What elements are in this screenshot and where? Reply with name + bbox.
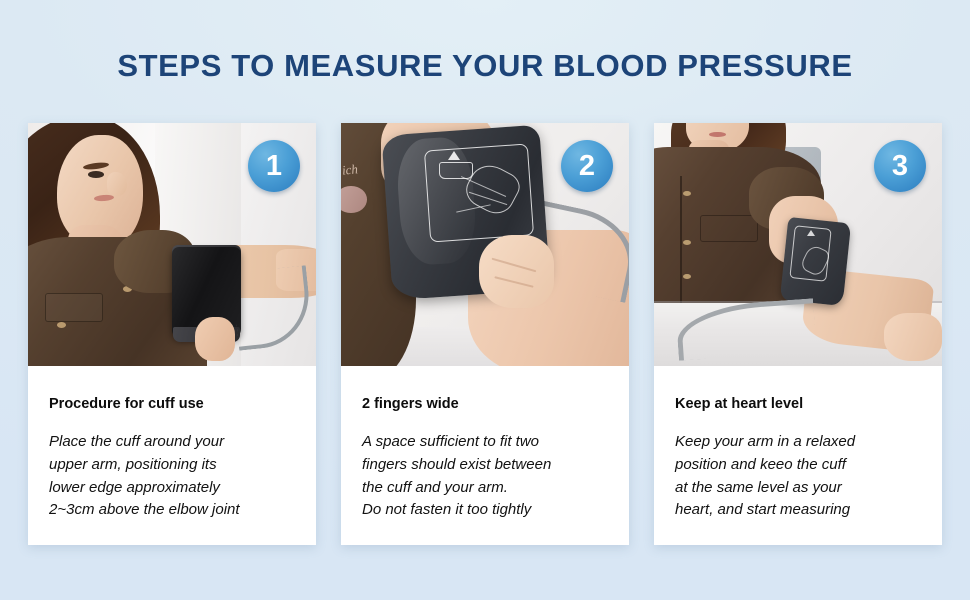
step-3-heading: Keep at heart level (675, 396, 922, 412)
woman-eye (88, 171, 104, 178)
step-card-2[interactable]: ich 2 2 fingers wide A space sufficient … (341, 123, 629, 545)
infographic-poster: STEPS TO MEASURE YOUR BLOOD PRESSURE (0, 0, 970, 600)
step-3-photo: 3 (654, 123, 942, 366)
step-3-text: Keep at heart level Keep your arm in a r… (654, 366, 942, 545)
blouse-button (57, 322, 66, 328)
step-3-body: Keep your arm in a relaxed position and … (675, 431, 922, 522)
step-2-photo: ich 2 (341, 123, 629, 366)
blouse-pocket (45, 293, 103, 322)
step-2-text: 2 fingers wide A space sufficient to fit… (341, 366, 629, 545)
diagram-arrow-icon (807, 230, 815, 236)
blouse-pocket (700, 215, 758, 242)
cloth-script-text: ich (342, 161, 359, 179)
step-1-photo: 1 (28, 123, 316, 366)
step-2-body: A space sufficient to fit two fingers sh… (362, 431, 609, 522)
step-card-3[interactable]: 3 Keep at heart level Keep your arm in a… (654, 123, 942, 545)
step-badge-2: 2 (561, 140, 613, 192)
steps-card-list: 1 Procedure for cuff use Place the cuff … (28, 123, 942, 545)
diagram-arrow-icon (448, 151, 460, 160)
diagram-cuff-icon (439, 162, 474, 179)
step-2-heading: 2 fingers wide (362, 396, 609, 412)
step-1-body: Place the cuff around your upper arm, po… (49, 431, 296, 522)
blouse-placket (680, 176, 682, 302)
step-card-1[interactable]: 1 Procedure for cuff use Place the cuff … (28, 123, 316, 545)
page-title: STEPS TO MEASURE YOUR BLOOD PRESSURE (0, 48, 970, 84)
step-badge-3: 3 (874, 140, 926, 192)
step-badge-1: 1 (248, 140, 300, 192)
assistant-hand (195, 317, 235, 361)
woman-lips (709, 132, 726, 137)
two-fingers (479, 235, 554, 308)
step-1-heading: Procedure for cuff use (49, 396, 296, 412)
step-1-text: Procedure for cuff use Place the cuff ar… (28, 366, 316, 545)
relaxed-hand (884, 313, 942, 362)
